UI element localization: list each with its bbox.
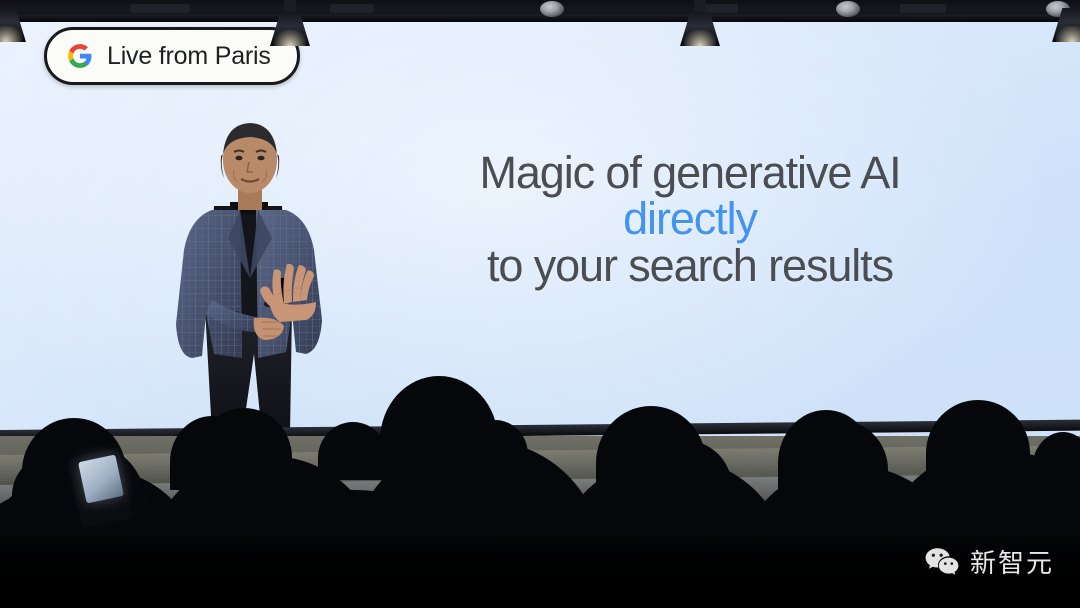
truss-lens-icon xyxy=(836,1,860,17)
keynote-screenshot: Magic of generative AI directly to your … xyxy=(0,0,1080,608)
google-g-icon xyxy=(67,43,93,69)
headline-line-1: Magic of generative AI xyxy=(380,150,1000,196)
badge-label: Live from Paris xyxy=(107,42,271,71)
truss-lens-icon xyxy=(540,1,564,17)
truss-block xyxy=(130,4,190,13)
speaker-figure xyxy=(150,118,380,448)
watermark-text: 新智元 xyxy=(970,543,1054,580)
spotlight-neck xyxy=(694,0,706,14)
live-from-paris-badge[interactable]: Live from Paris xyxy=(44,27,300,85)
headline-line-2-accent: directly xyxy=(380,196,1000,242)
speaker-illustration xyxy=(150,118,380,448)
truss-bar xyxy=(0,14,1080,22)
watermark: 新智元 xyxy=(925,543,1054,580)
headline-line-3: to your search results xyxy=(380,243,1000,289)
spotlight-neck xyxy=(284,0,296,14)
audience-foreground xyxy=(0,536,1080,608)
audience-head xyxy=(926,400,1030,486)
audience-silhouettes xyxy=(0,400,1080,608)
wechat-icon xyxy=(925,547,959,577)
slide-headline: Magic of generative AI directly to your … xyxy=(380,150,1000,289)
truss-block xyxy=(330,4,374,13)
truss-block xyxy=(900,4,946,13)
audience-head xyxy=(318,422,388,480)
